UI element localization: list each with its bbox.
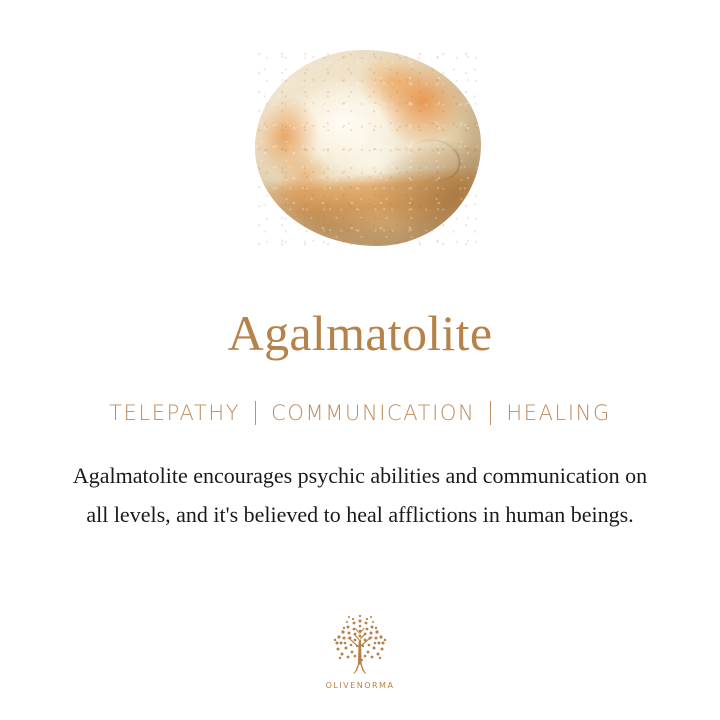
keyword-healing: HEALING — [506, 398, 611, 428]
keyword-separator — [490, 401, 491, 425]
stone-info-card: Agalmatolite TELEPATHY COMMUNICATION HEA… — [0, 0, 720, 720]
agalmatolite-stone-image — [255, 50, 481, 246]
keyword-separator — [255, 401, 256, 425]
brand-logo: OLIVENORMA — [305, 612, 415, 690]
keyword-communication: COMMUNICATION — [271, 398, 475, 428]
keyword-telepathy: TELEPATHY — [109, 398, 240, 428]
page-title: Agalmatolite — [0, 304, 720, 362]
stone-image-area — [0, 0, 720, 280]
tree-of-life-icon — [324, 612, 396, 678]
keyword-list: TELEPATHY COMMUNICATION HEALING — [0, 398, 720, 428]
brand-wordmark: OLIVENORMA — [326, 681, 395, 690]
stone-description: Agalmatolite encourages psychic abilitie… — [60, 456, 660, 534]
